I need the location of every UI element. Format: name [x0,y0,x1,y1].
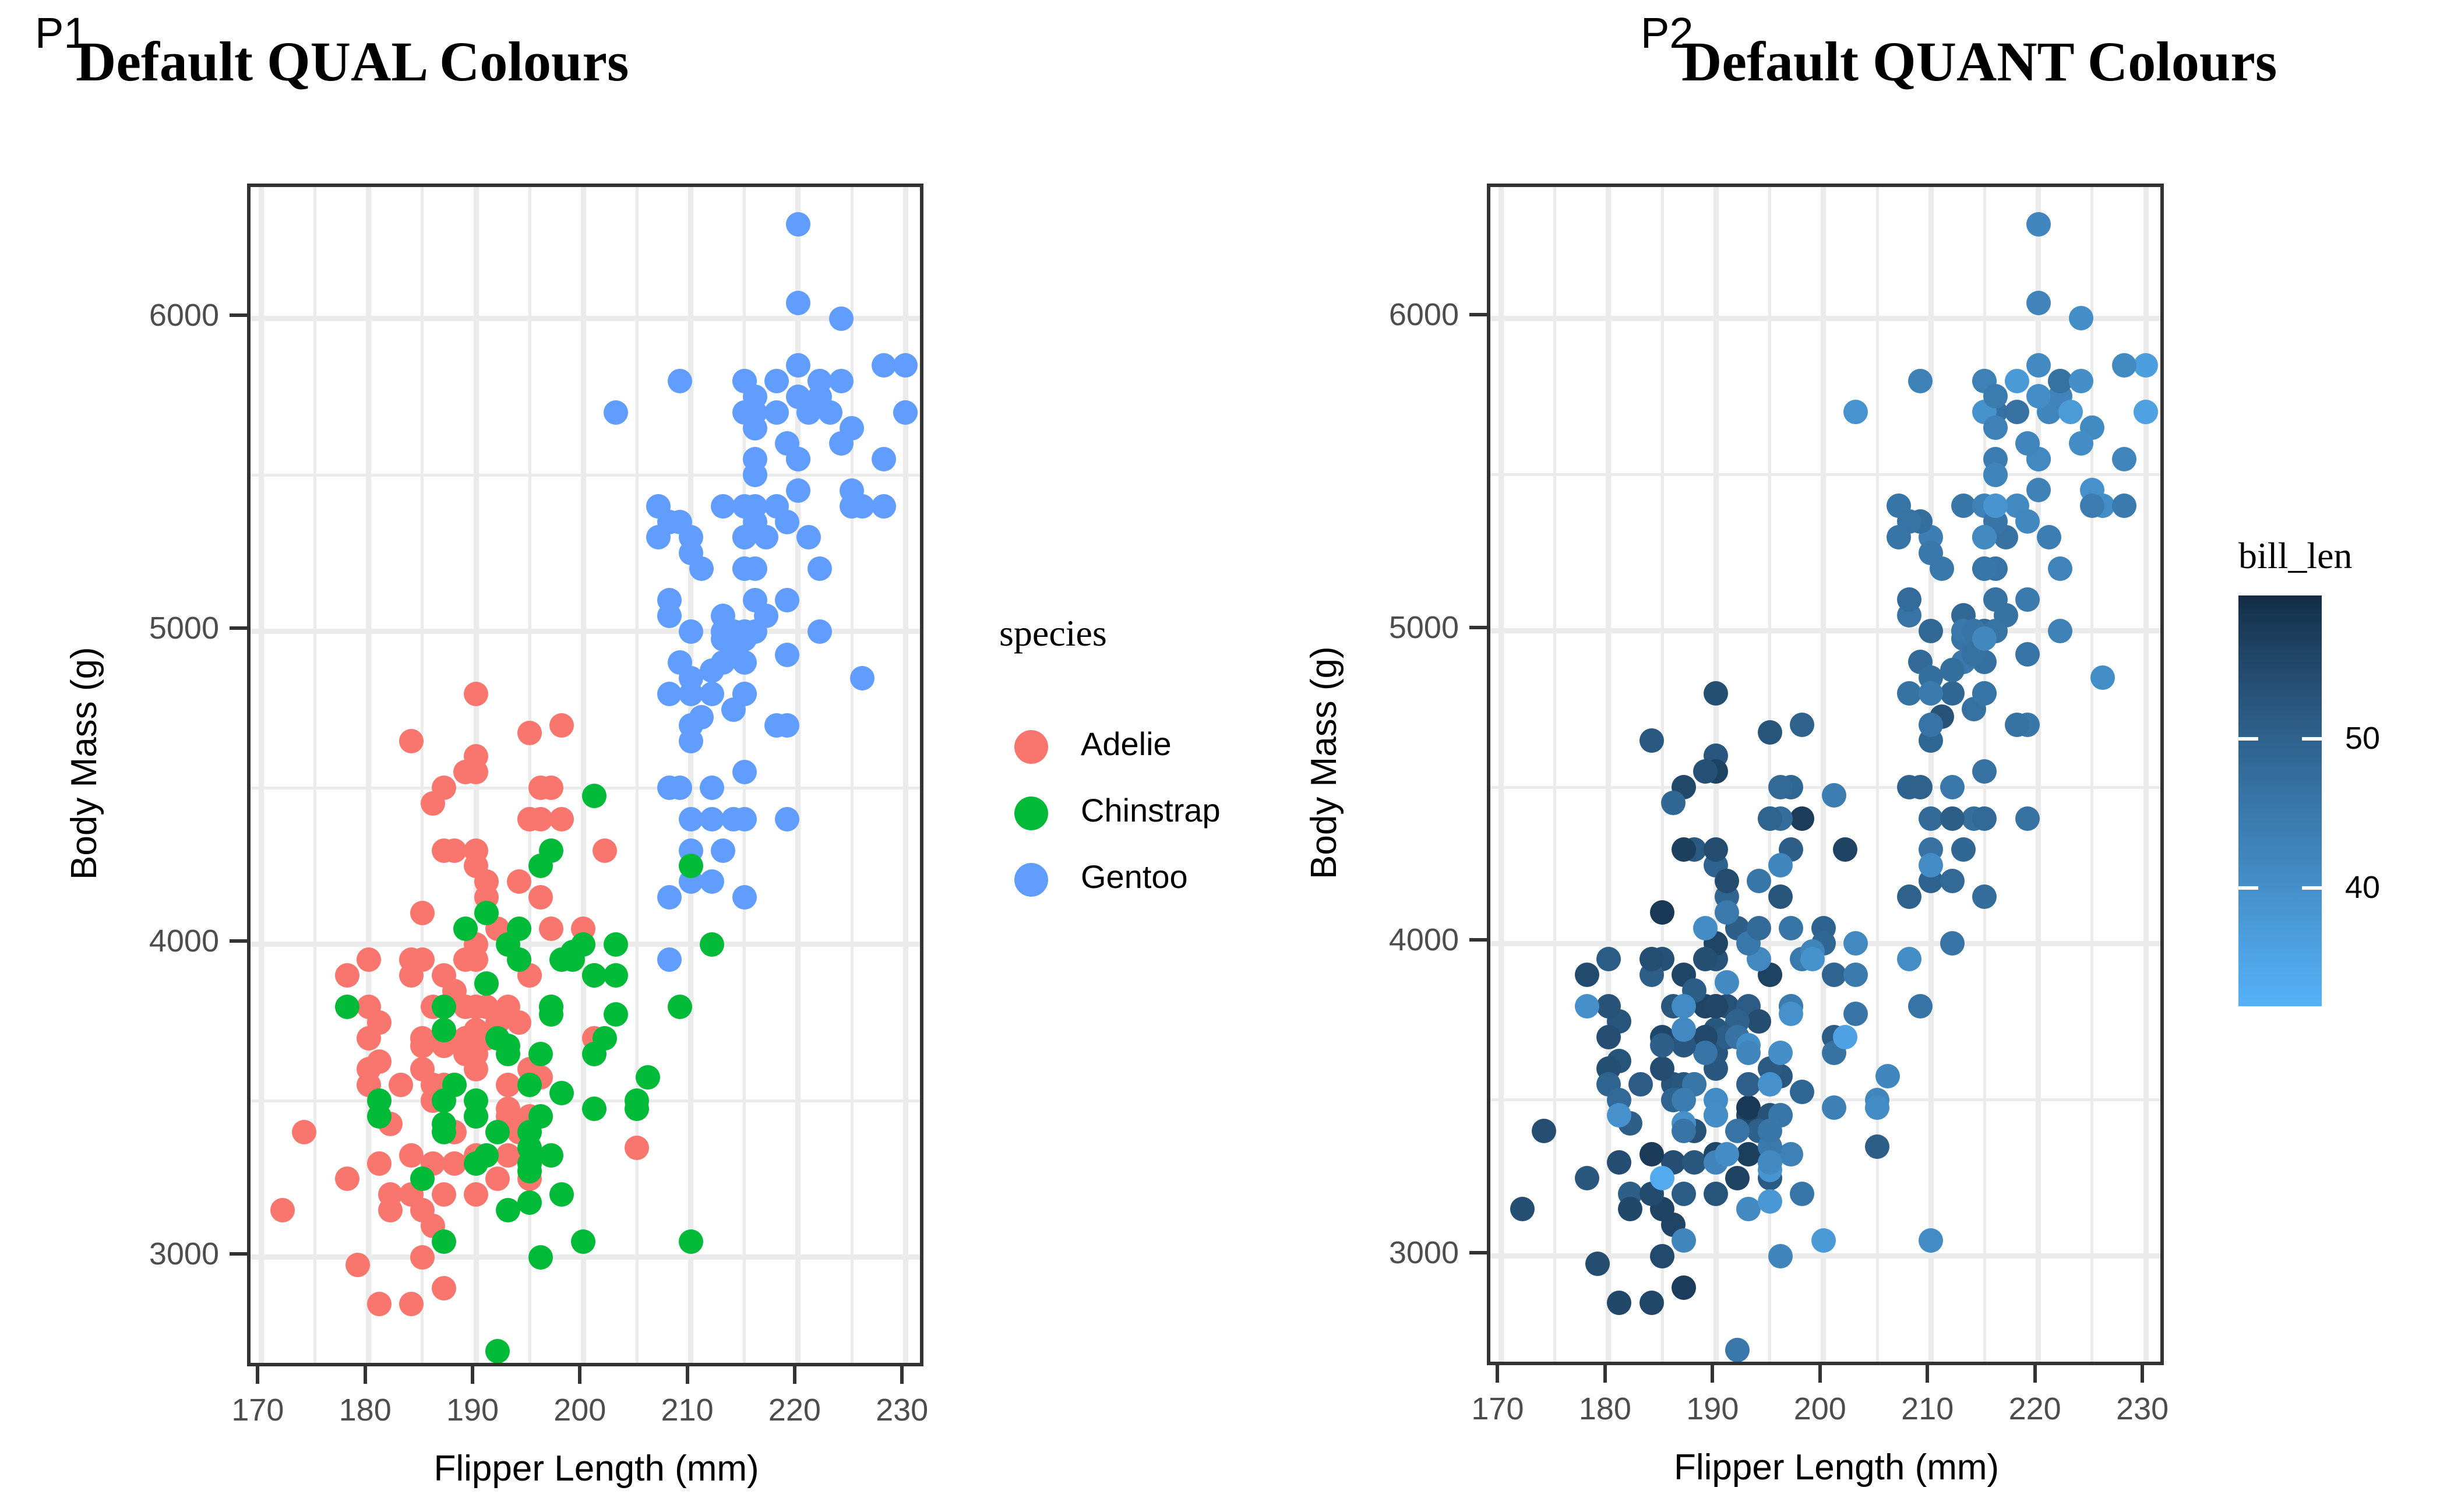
data-point [432,1182,456,1207]
y-axis-tick-label: 3000 [68,1238,219,1270]
plot-area-p2 [1487,184,2164,1365]
x-axis-tick [471,1366,474,1384]
data-point [1747,916,1771,940]
data-point [1983,463,2008,487]
y-axis-tick [230,313,247,317]
y-axis-tick [230,939,247,943]
y-axis-tick [1469,1251,1487,1254]
data-point [357,1026,381,1051]
data-point [850,666,875,690]
data-point [410,1245,435,1270]
data-point [1650,1033,1674,1058]
x-axis-tick-label: 230 [2084,1393,2201,1425]
data-point [432,1088,456,1113]
gridline-minor-horizontal [251,474,920,477]
legend-items-species: AdelieChinstrapGentoo [999,715,1107,913]
data-point [2112,447,2136,471]
y-axis-tick [1469,313,1487,316]
data-point [1725,1166,1750,1190]
data-point [496,1042,520,1066]
data-point [1768,884,1793,909]
data-point [1972,681,1997,706]
data-point [464,682,488,706]
data-point [1532,1119,1556,1143]
data-point [775,643,799,667]
data-point [1983,415,2008,440]
data-point [453,917,478,941]
data-point [1983,587,2008,612]
x-axis-tick [1818,1365,1822,1383]
data-point [743,416,767,440]
data-point [2015,431,2040,456]
data-point [1672,994,1696,1018]
legend-item-label: Chinstrap [1081,794,1221,827]
data-point [1940,869,1965,893]
data-point [539,917,563,941]
data-point [1736,1095,1761,1120]
data-point [1704,1182,1728,1206]
x-axis-tick-label: 210 [629,1394,746,1426]
gridline-major-vertical [581,187,586,1363]
data-point [808,619,832,644]
gridline-minor-vertical [313,187,316,1363]
data-point [1736,1072,1761,1097]
data-point [432,995,456,1019]
data-point [2048,556,2072,581]
data-point [668,995,692,1019]
data-point [679,807,703,831]
data-point [1758,720,1782,745]
x-axis-tick [2033,1365,2037,1383]
data-point [732,885,757,910]
data-point [421,791,445,816]
data-point [893,400,918,425]
data-point [517,1073,542,1097]
data-point [464,995,488,1019]
data-point [1940,931,1965,956]
data-point [872,494,896,519]
data-point [1758,1072,1782,1097]
data-point [410,1166,435,1191]
data-point [410,1034,435,1058]
legend-key [999,715,1063,779]
x-axis-tick [686,1366,689,1384]
data-point [1768,853,1793,877]
y-axis-tick-label: 6000 [1307,299,1459,330]
data-point [775,510,799,534]
colourbar-tick [2238,737,2258,741]
gridline-major-vertical [688,187,693,1363]
legend-colour-dot [1014,796,1048,830]
data-point [604,1002,628,1027]
colourbar-tick-label: 40 [2345,872,2380,903]
data-point [2026,478,2051,502]
x-axis-tick [1711,1365,1714,1383]
data-point [582,963,607,988]
data-point [786,385,810,409]
data-point [2015,806,2040,831]
legend-item[interactable]: Gentoo [999,848,1244,912]
data-point [775,588,799,612]
data-point [1919,1228,1943,1253]
data-point [775,807,799,831]
data-point [679,619,703,644]
data-point [1639,1142,1664,1166]
data-point [399,1143,424,1168]
y-axis-tick [230,1252,247,1256]
data-point [2005,369,2029,393]
data-point [657,588,682,612]
data-point [496,1097,520,1121]
data-point [1972,626,1997,651]
data-point [2112,494,2136,518]
data-point [1779,1002,1803,1026]
data-point [474,971,499,996]
data-point [1972,884,1997,909]
data-point [1790,1182,1814,1206]
data-point [432,1120,456,1144]
data-point [410,901,435,925]
data-point [378,1198,403,1222]
plot-panel-quant: P2 Default QUANT Colours 170180190200210… [1223,0,2447,1512]
data-point [700,869,724,894]
data-point [1843,931,1868,956]
x-axis-tick-label: 190 [414,1394,531,1426]
x-axis-tick-label: 220 [1977,1393,2093,1425]
data-point [2069,306,2093,330]
data-point [1951,837,1976,862]
data-point [743,385,767,409]
data-point [1596,1025,1621,1049]
data-point [1693,916,1718,940]
data-point [507,1010,531,1035]
data-point [1715,869,1739,893]
x-axis-tick [256,1366,259,1384]
data-point [496,1143,520,1168]
data-point [2037,525,2061,549]
data-point [464,1182,488,1207]
data-point [1607,1291,1631,1315]
data-point [1736,1041,1761,1065]
colourbar [2238,595,2322,1006]
data-point [528,1042,553,1066]
data-point [646,525,671,549]
data-point [636,1065,660,1090]
x-axis-tick [578,1366,581,1384]
data-point [517,807,542,831]
gridline-major-vertical [1821,187,1826,1362]
y-axis-tick-label: 5000 [68,612,219,644]
legend-key [999,781,1063,845]
data-point [528,1245,553,1270]
legend-item-label: Adelie [1081,728,1172,760]
x-axis-tick-label: 220 [736,1394,853,1426]
data-point [357,995,381,1019]
data-point [270,1198,295,1222]
data-point [485,1120,510,1144]
data-point [2069,431,2093,456]
data-point [796,525,821,549]
data-point [485,1166,510,1191]
data-point [1790,1080,1814,1104]
data-point [2026,291,2051,315]
gridline-major-vertical [1606,187,1611,1362]
data-point [764,713,789,738]
data-point [432,1229,456,1254]
data-point [335,1166,359,1191]
data-point [1650,1244,1674,1268]
data-point [1919,806,1943,831]
legend-title-bill-len: bill_len [2238,537,2353,575]
data-point [1639,1291,1664,1315]
data-point [432,1276,456,1300]
data-point [2134,400,2158,424]
data-point [1618,1197,1642,1221]
data-point [593,1026,617,1051]
x-axis-tick [900,1366,904,1384]
data-point [389,1073,413,1097]
data-point [1919,619,1943,643]
data-point [571,1229,595,1254]
panel-title-p1: Default QUAL Colours [76,34,629,90]
x-axis-tick [793,1366,796,1384]
data-point [517,1120,542,1144]
data-point [464,1104,488,1129]
legend-key [999,848,1063,912]
data-point [474,1143,499,1168]
data-point [485,1339,510,1363]
data-point [2080,494,2104,518]
data-point [292,1120,316,1144]
data-point [507,917,531,941]
data-point [1672,1275,1696,1300]
data-point [732,627,757,651]
x-axis-title-p2: Flipper Length (mm) [1674,1450,1977,1486]
data-point [1822,963,1846,987]
panel-title-p2: Default QUANT Colours [1681,34,2277,90]
data-point [1693,1041,1718,1065]
gridline-major-vertical [259,187,264,1363]
data-point [625,1097,649,1121]
gridline-minor-vertical [1553,187,1556,1362]
data-point [1897,884,1921,909]
data-point [1715,900,1739,925]
data-point [818,400,842,425]
data-point [432,1018,456,1042]
data-point [1790,713,1814,737]
y-axis-tick [1469,938,1487,942]
legend-item[interactable]: Adelie [999,715,1244,779]
x-axis-tick-label: 230 [844,1394,960,1426]
data-point [786,353,810,378]
data-point [840,494,864,519]
data-point [528,776,553,800]
gridline-major-vertical [1928,187,1934,1362]
x-axis-tick [2141,1365,2144,1383]
data-point [517,1151,542,1176]
data-point [335,995,359,1019]
y-axis-tick-label: 6000 [68,299,219,331]
data-point [1972,759,1997,784]
data-point [872,353,896,378]
data-point [732,760,757,784]
x-axis-tick-label: 170 [199,1394,316,1426]
data-point [539,1143,563,1168]
data-point [1919,713,1943,737]
data-point [1822,783,1846,808]
data-point [1704,994,1728,1018]
data-point [1897,947,1921,971]
data-point [657,885,682,910]
colourbar-tick-label: 50 [2345,722,2380,754]
data-point [1940,681,1965,706]
data-point [1758,1119,1782,1143]
data-point [679,713,703,738]
data-point [1972,806,1997,831]
data-point [549,713,574,738]
data-point [1650,900,1674,925]
data-point [1865,1134,1889,1159]
gridline-minor-vertical [2090,187,2093,1362]
x-axis-tick-label: 190 [1654,1393,1771,1425]
gridline-major-vertical [1498,187,1504,1362]
data-point [1661,791,1686,815]
x-axis-tick [1926,1365,1929,1383]
data-point [1747,1009,1771,1034]
x-axis-tick-label: 170 [1439,1393,1556,1425]
data-point [1607,1150,1631,1175]
legend-item[interactable]: Chinstrap [999,781,1244,845]
data-point [1725,1119,1750,1143]
data-point [1758,1150,1782,1175]
data-point [1672,1088,1696,1112]
data-point [549,1182,574,1207]
data-point [1865,1095,1889,1120]
data-point [829,369,854,393]
data-point [1704,1103,1728,1127]
data-point [743,588,767,612]
data-point [399,729,424,753]
data-point [2112,353,2136,378]
data-point [410,1057,435,1081]
data-point [1768,775,1793,799]
data-point [1940,775,1965,799]
data-point [657,682,682,706]
data-point [549,807,574,831]
data-point [367,1104,392,1129]
data-point [711,838,735,863]
x-axis-tick-label: 180 [1547,1393,1663,1425]
data-point [700,682,724,706]
legend-colour-dot [1014,863,1048,897]
colourbar-tick [2302,737,2322,741]
data-point [700,658,724,683]
data-point [679,541,703,565]
data-point [2026,384,2051,408]
data-point [732,525,757,549]
data-point [700,807,724,831]
data-point [2134,353,2158,378]
data-point [1758,806,1782,831]
data-point [604,932,628,957]
data-point [1833,837,1857,862]
data-point [732,807,757,831]
data-point [732,682,757,706]
y-axis-tick-label: 3000 [1307,1237,1459,1268]
data-point [453,947,478,972]
data-point [1875,1064,1900,1088]
colourbar-tick [2238,886,2258,890]
data-point [1575,1166,1599,1190]
data-point [1628,1072,1653,1097]
data-point [657,947,682,972]
data-point [1908,775,1933,799]
legend-species: species AdelieChinstrapGentoo [999,615,1107,913]
data-point [367,1151,392,1176]
data-point [1693,947,1718,971]
data-point [560,947,585,972]
data-point [1575,963,1599,987]
data-point [1908,369,1933,393]
data-point [786,291,810,315]
data-point [1843,1002,1868,1026]
data-point [335,963,359,988]
plot-area-p1 [247,184,923,1366]
data-point [1758,1189,1782,1214]
data-point [507,869,531,894]
data-point [453,760,478,784]
data-point [453,1042,478,1066]
data-point [1983,494,2008,518]
gridline-minor-vertical [1876,187,1879,1362]
data-point [1639,728,1664,753]
legend-colour-dot [1014,730,1048,764]
data-point [604,963,628,988]
data-point [1811,1228,1836,1253]
plot-panel-qual: P1 Default QUAL Colours 1701801902002102… [0,0,1223,1512]
data-point [1725,1338,1750,1362]
data-point [1704,681,1728,706]
x-axis-tick [1603,1365,1607,1383]
data-point [582,784,607,808]
data-point [1972,525,1997,549]
data-point [517,1190,542,1215]
data-point [1951,494,1976,518]
data-point [1736,1197,1761,1221]
data-point [786,478,810,503]
x-axis-tick-label: 200 [1762,1393,1878,1425]
data-point [1672,1017,1696,1042]
data-point [893,353,918,378]
data-point [2069,369,2093,393]
data-point [2026,353,2051,378]
data-point [711,494,735,519]
data-point [1715,1142,1739,1166]
data-point [1682,1150,1706,1175]
data-point [1747,869,1771,893]
data-point [549,1081,574,1105]
data-point [2005,400,2029,424]
data-point [357,947,381,972]
data-point [1833,1025,1857,1049]
data-point [679,682,703,706]
data-point [2015,509,2040,534]
y-axis-tick-label: 5000 [1307,612,1459,643]
data-point [1897,681,1921,706]
data-point [2026,212,2051,237]
data-point [679,1229,703,1254]
data-point [1575,994,1599,1018]
